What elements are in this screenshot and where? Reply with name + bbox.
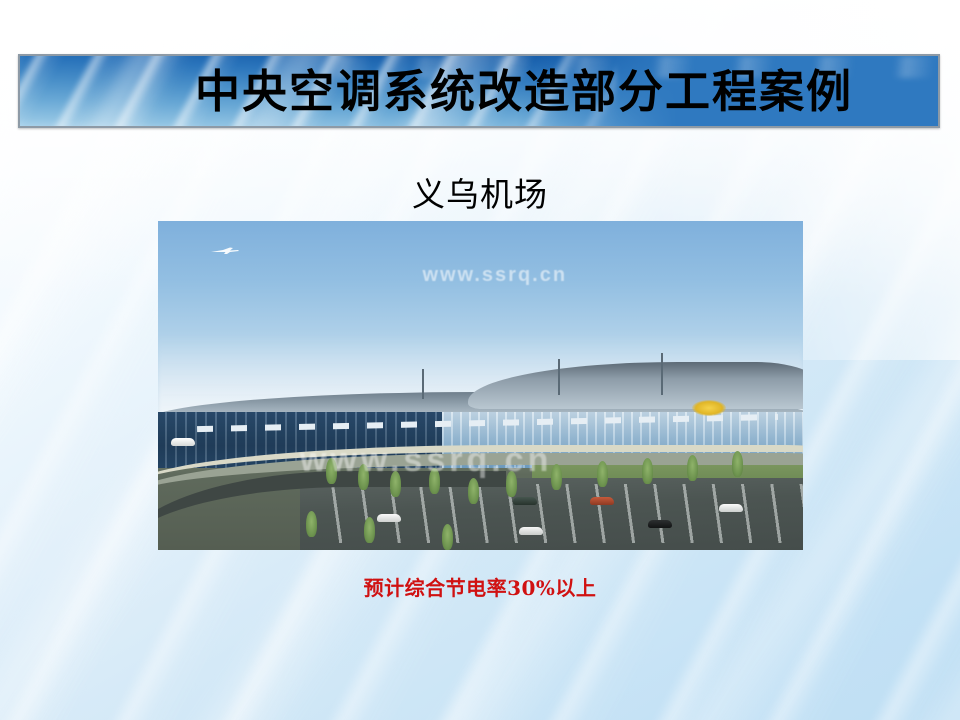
photo-tree xyxy=(468,478,479,504)
photo-terminal-logo xyxy=(692,400,726,416)
photo-tree xyxy=(551,464,562,490)
photo-tree xyxy=(442,524,453,550)
photo-car-white xyxy=(377,514,401,522)
photo-car-green xyxy=(513,497,537,505)
title-banner: 中央空调系统改造部分工程案例 xyxy=(18,54,940,128)
photo-watermark-top: www.ssrq.cn xyxy=(422,264,567,287)
caption-text: 预计综合节电率30%以上 xyxy=(0,572,960,601)
photo-mast-3 xyxy=(661,353,663,396)
slide-subtitle: 义乌机场 xyxy=(0,168,960,216)
page-title: 中央空调系统改造部分工程案例 xyxy=(20,56,938,126)
photo-car-red xyxy=(590,497,614,505)
photo-mast-1 xyxy=(422,369,424,399)
photo-mast-2 xyxy=(558,359,560,395)
photo-tree xyxy=(642,458,653,484)
photo-car-white xyxy=(719,504,743,512)
photo-tree xyxy=(732,451,743,477)
photo-car-dark xyxy=(648,520,672,528)
photo-tree xyxy=(364,517,375,543)
photo-watermark-bottom: www.ssrq.cn xyxy=(300,441,552,480)
airport-photo: www.ssrq.cn www.ssrq.cn xyxy=(158,221,803,550)
slide-canvas: 中央空调系统改造部分工程案例 义乌机场 www.ssrq.cn www.ssrq… xyxy=(0,0,960,720)
photo-tree xyxy=(687,455,698,481)
photo-car-white xyxy=(171,438,195,446)
airplane-icon xyxy=(210,246,240,255)
photo-car-white xyxy=(519,527,543,535)
photo-tree xyxy=(597,461,608,487)
